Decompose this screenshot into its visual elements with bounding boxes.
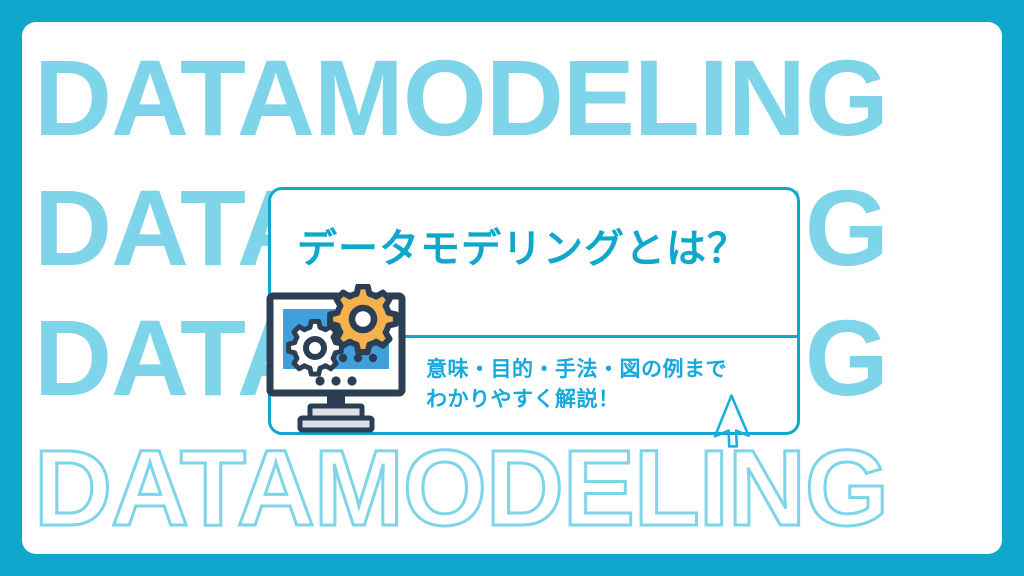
thumbnail-canvas: DATAMODELING DATAMODELING DATAMODELING D…	[0, 0, 1024, 576]
monitor-gears-icon	[264, 284, 416, 434]
card-title: データモデリングとは？	[297, 226, 748, 272]
card-subtitle: 意味・目的・手法・図の例まで わかりやすく解説！	[426, 355, 727, 415]
background-word-row-4-outline: DATAMODELING	[34, 434, 1002, 542]
mouse-cursor-icon	[702, 390, 764, 452]
card-subtitle-line-1: 意味・目的・手法・図の例まで	[426, 355, 727, 385]
white-panel: DATAMODELING DATAMODELING DATAMODELING D…	[22, 22, 1002, 554]
background-word-row-1: DATAMODELING	[34, 44, 1002, 152]
card-subtitle-line-2: わかりやすく解説！	[426, 385, 727, 415]
